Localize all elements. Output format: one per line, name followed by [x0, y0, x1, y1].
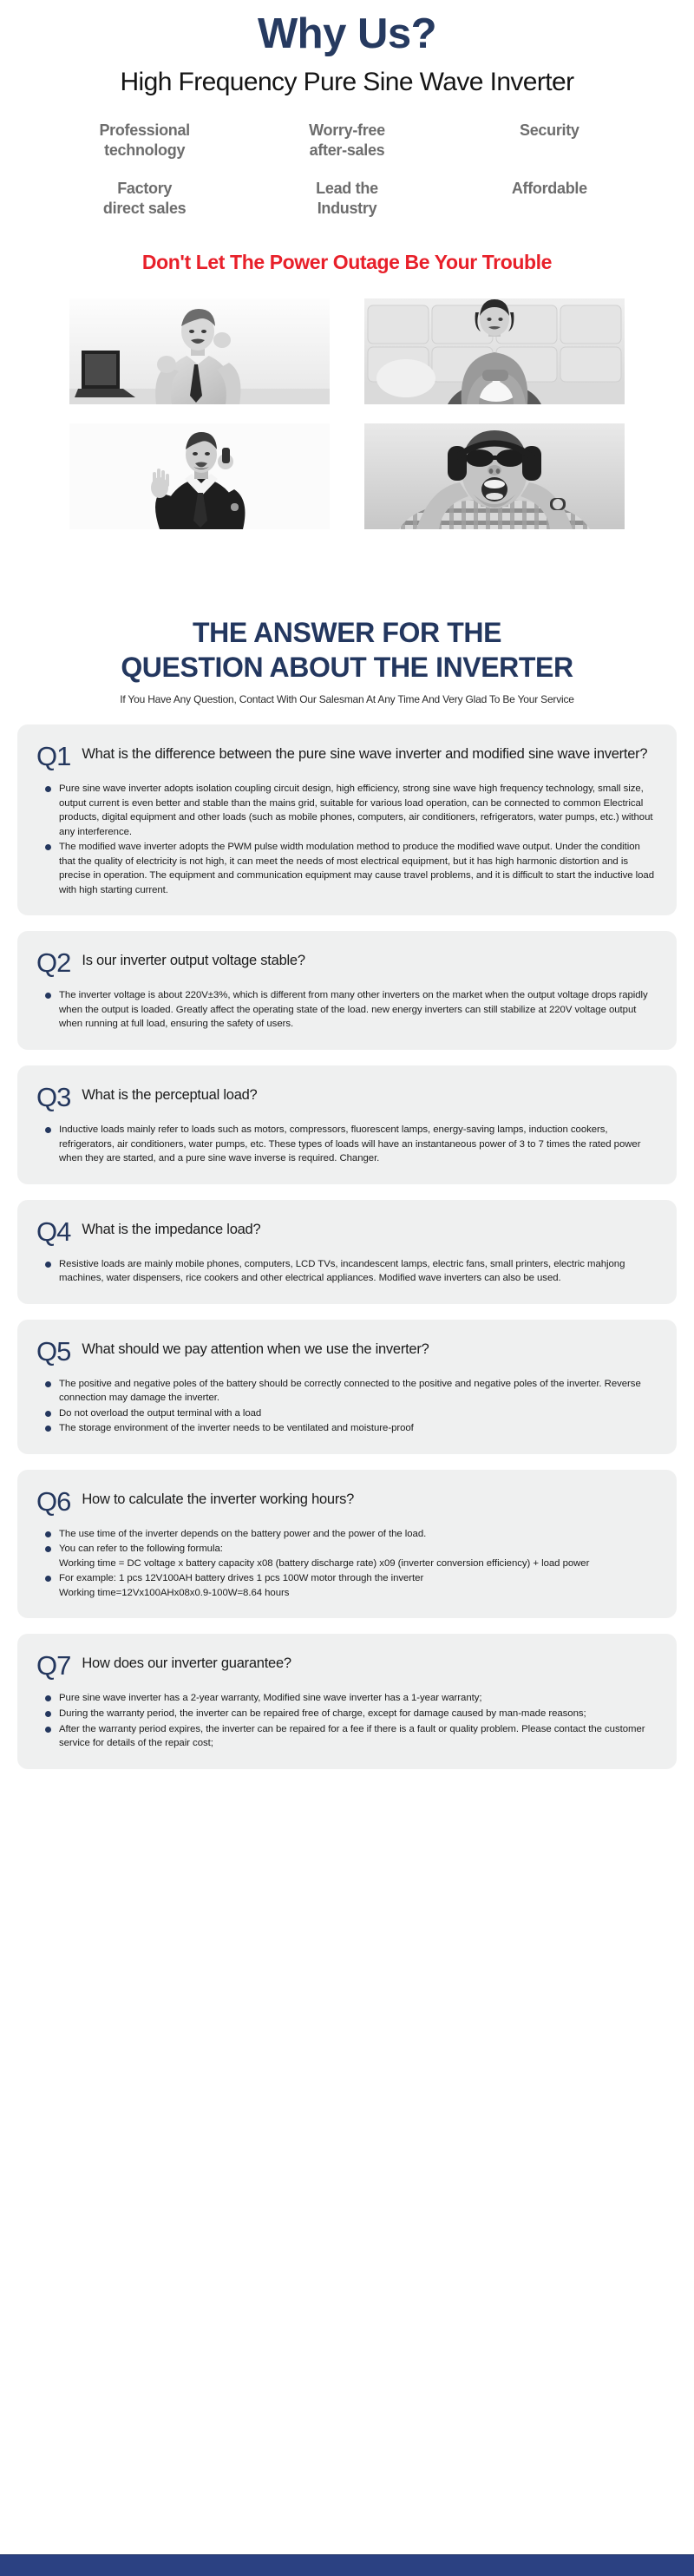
faq-question-q1: What is the difference between the pure …	[82, 742, 647, 763]
photo-grid	[69, 298, 625, 529]
faq-question-q3: What is the perceptual load?	[82, 1083, 257, 1104]
faq-question-row: Q5 What should we pay attention when we …	[36, 1337, 654, 1365]
faq-card-q5[interactable]: Q5 What should we pay attention when we …	[17, 1320, 677, 1454]
faq-answer-item: Resistive loads are mainly mobile phones…	[59, 1257, 654, 1286]
page-title: Why Us?	[0, 7, 694, 56]
faq-number-q5: Q5	[36, 1337, 70, 1365]
faq-card-q1[interactable]: Q1 What is the difference between the pu…	[17, 724, 677, 915]
answer-subheading: If You Have Any Question, Contact With O…	[0, 693, 694, 705]
photo-man-with-headphones-screaming	[364, 423, 625, 529]
feature-grid: Professional technology Worry-free after…	[43, 121, 651, 218]
faq-number-q4: Q4	[36, 1217, 70, 1245]
faq-answer-item: The inverter voltage is about 220V±3%, w…	[59, 988, 654, 1032]
faq-answer-item: During the warranty period, the inverter…	[59, 1707, 654, 1721]
feature-item-factory-direct-sales: Factory direct sales	[43, 179, 246, 218]
faq-answer-item: Pure sine wave inverter adopts isolation…	[59, 782, 654, 839]
faq-number-q6: Q6	[36, 1487, 70, 1515]
page-subtitle: High Frequency Pure Sine Wave Inverter	[0, 67, 694, 98]
faq-answer-list-q2: The inverter voltage is about 220V±3%, w…	[36, 988, 654, 1032]
faq-number-q3: Q3	[36, 1083, 70, 1111]
faq-question-row: Q4 What is the impedance load?	[36, 1217, 654, 1245]
faq-answer-item: Pure sine wave inverter has a 2-year war…	[59, 1691, 654, 1706]
photo-shouting-businessman-on-phone	[69, 423, 330, 529]
feature-item-worry-free-after-sales: Worry-free after-sales	[246, 121, 448, 160]
hero-section: Why Us? High Frequency Pure Sine Wave In…	[0, 0, 694, 98]
bottom-spacer	[0, 1769, 694, 1811]
feature-item-security: Security	[448, 121, 651, 160]
faq-answer-item: You can refer to the following formula: …	[59, 1542, 654, 1570]
answer-section-header: THE ANSWER FOR THE QUESTION ABOUT THE IN…	[0, 616, 694, 705]
promo-page: Why Us? High Frequency Pure Sine Wave In…	[0, 0, 694, 2576]
faq-number-q1: Q1	[36, 742, 70, 770]
faq-card-q2[interactable]: Q2 Is our inverter output voltage stable…	[17, 931, 677, 1050]
faq-answer-item: For example: 1 pcs 12V100AH battery driv…	[59, 1571, 654, 1600]
faq-answer-list-q1: Pure sine wave inverter adopts isolation…	[36, 782, 654, 897]
faq-answer-item: The use time of the inverter depends on …	[59, 1527, 654, 1542]
answer-heading-line1: THE ANSWER FOR THE	[193, 617, 501, 648]
faq-answer-item: The modified wave inverter adopts the PW…	[59, 840, 654, 897]
feature-item-professional-technology: Professional technology	[43, 121, 246, 160]
power-outage-banner: Don't Let The Power Outage Be Your Troub…	[0, 251, 694, 274]
faq-question-row: Q3 What is the perceptual load?	[36, 1083, 654, 1111]
faq-question-q2: Is our inverter output voltage stable?	[82, 948, 304, 969]
photo-angry-man-at-laptop	[69, 298, 330, 404]
faq-answer-list-q5: The positive and negative poles of the b…	[36, 1377, 654, 1436]
faq-number-q2: Q2	[36, 948, 70, 976]
faq-answer-list-q7: Pure sine wave inverter has a 2-year war…	[36, 1691, 654, 1750]
photo-frustrated-woman-with-controller	[364, 298, 625, 404]
faq-answer-item: Inductive loads mainly refer to loads su…	[59, 1123, 654, 1166]
faq-question-row: Q2 Is our inverter output voltage stable…	[36, 948, 654, 976]
feature-item-lead-the-industry: Lead the Industry	[246, 179, 448, 218]
faq-list: Q1 What is the difference between the pu…	[17, 724, 677, 1768]
faq-question-q6: How to calculate the inverter working ho…	[82, 1487, 354, 1508]
faq-answer-item: The positive and negative poles of the b…	[59, 1377, 654, 1406]
answer-heading-line2: QUESTION ABOUT THE INVERTER	[121, 652, 573, 683]
faq-card-q4[interactable]: Q4 What is the impedance load? Resistive…	[17, 1200, 677, 1304]
faq-card-q7[interactable]: Q7 How does our inverter guarantee? Pure…	[17, 1634, 677, 1768]
faq-answer-list-q6: The use time of the inverter depends on …	[36, 1527, 654, 1601]
faq-answer-item: The storage environment of the inverter …	[59, 1421, 654, 1436]
faq-card-q6[interactable]: Q6 How to calculate the inverter working…	[17, 1470, 677, 1619]
faq-question-q7: How does our inverter guarantee?	[82, 1651, 291, 1672]
feature-item-affordable: Affordable	[448, 179, 651, 218]
faq-answer-item: After the warranty period expires, the i…	[59, 1722, 654, 1751]
faq-number-q7: Q7	[36, 1651, 70, 1679]
answer-heading: THE ANSWER FOR THE QUESTION ABOUT THE IN…	[0, 616, 694, 685]
footer-bar	[0, 2554, 694, 2576]
faq-answer-list-q3: Inductive loads mainly refer to loads su…	[36, 1123, 654, 1166]
faq-question-q5: What should we pay attention when we use…	[82, 1337, 429, 1358]
faq-answer-list-q4: Resistive loads are mainly mobile phones…	[36, 1257, 654, 1286]
faq-question-row: Q7 How does our inverter guarantee?	[36, 1651, 654, 1679]
faq-question-row: Q6 How to calculate the inverter working…	[36, 1487, 654, 1515]
faq-question-q4: What is the impedance load?	[82, 1217, 260, 1238]
faq-question-row: Q1 What is the difference between the pu…	[36, 742, 654, 770]
faq-answer-item: Do not overload the output terminal with…	[59, 1406, 654, 1421]
faq-card-q3[interactable]: Q3 What is the perceptual load? Inductiv…	[17, 1065, 677, 1184]
